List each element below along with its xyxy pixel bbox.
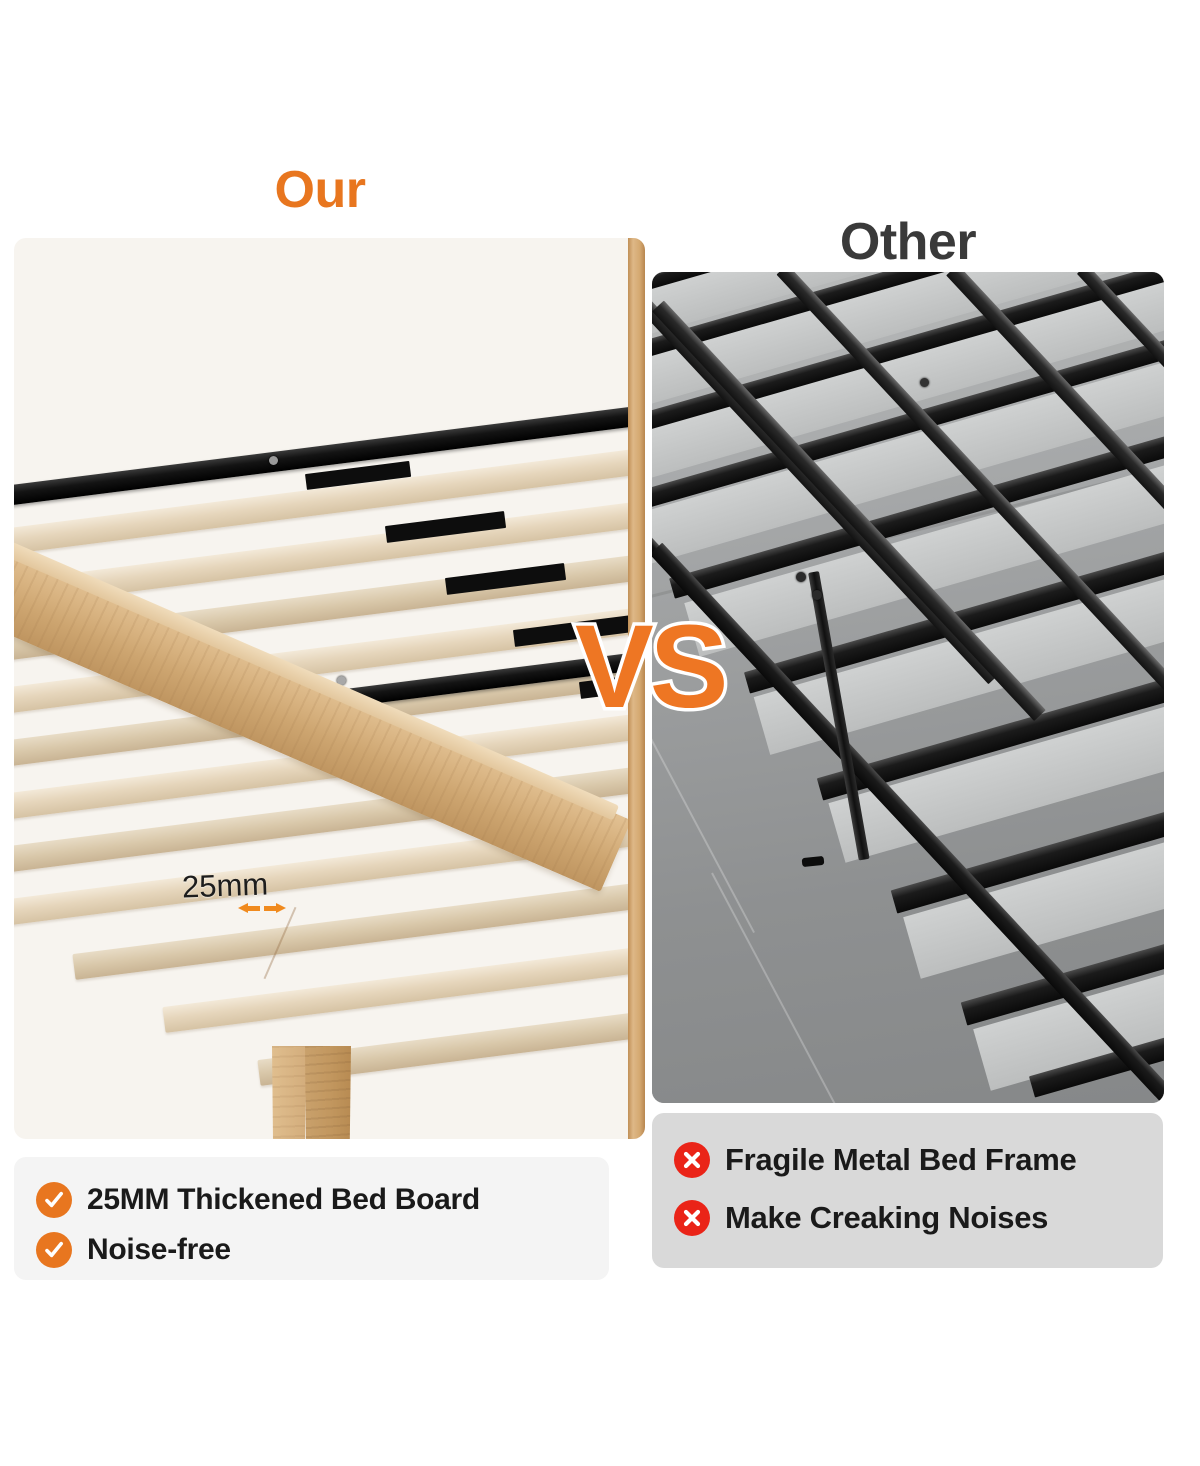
comparison-infographic: Our Other xyxy=(0,0,1200,1466)
thickness-annotation-label: 25mm xyxy=(181,867,268,906)
other-heading: Other xyxy=(652,212,1164,272)
other-feature-list: Fragile Metal Bed Frame Make Creaking No… xyxy=(652,1113,1163,1268)
other-product-image xyxy=(652,272,1164,1103)
our-heading: Our xyxy=(0,160,640,220)
our-product-image: 25mm xyxy=(14,238,645,1139)
versus-badge: VS xyxy=(575,608,724,726)
x-circle-icon xyxy=(674,1200,710,1236)
bed-leg-left-face xyxy=(272,1046,306,1139)
feature-label: Fragile Metal Bed Frame xyxy=(725,1142,1076,1178)
list-item: Fragile Metal Bed Frame xyxy=(674,1131,1141,1189)
list-item: Noise-free xyxy=(36,1225,587,1275)
feature-label: Make Creaking Noises xyxy=(725,1200,1048,1236)
screw-icon xyxy=(269,456,278,465)
bolt-icon xyxy=(812,590,822,600)
thickness-arrows-icon xyxy=(236,901,288,913)
bed-leg-right-face xyxy=(305,1046,351,1139)
feature-label: Noise-free xyxy=(87,1233,231,1267)
bolt-icon xyxy=(796,572,806,582)
bed-leg xyxy=(272,1046,350,1139)
our-feature-list: 25MM Thickened Bed Board Noise-free xyxy=(14,1157,609,1280)
list-item: 25MM Thickened Bed Board xyxy=(36,1175,587,1225)
check-circle-icon xyxy=(36,1182,72,1218)
check-circle-icon xyxy=(36,1232,72,1268)
feature-label: 25MM Thickened Bed Board xyxy=(87,1183,480,1217)
list-item: Make Creaking Noises xyxy=(674,1189,1141,1247)
x-circle-icon xyxy=(674,1142,710,1178)
bolt-icon xyxy=(920,378,929,387)
